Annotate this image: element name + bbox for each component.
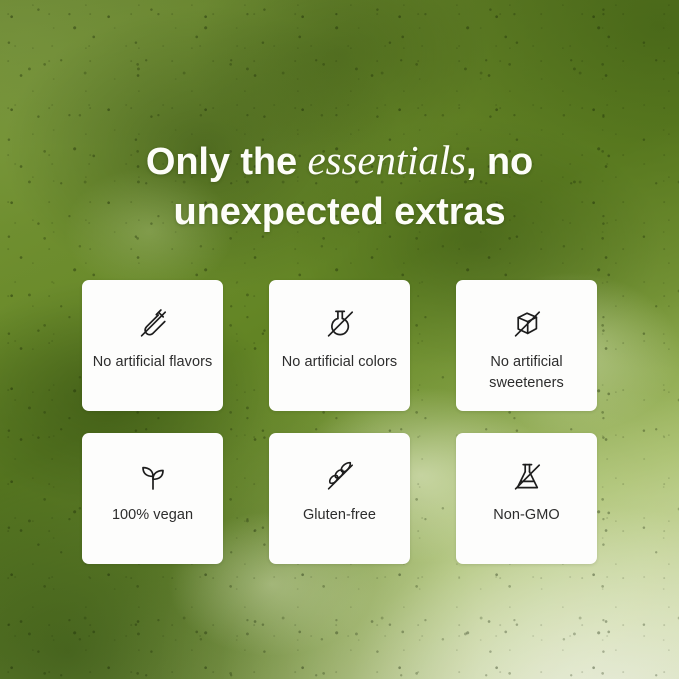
headline-part-one: Only the [146, 141, 308, 183]
no-conical-flask-icon [507, 455, 547, 499]
feature-card-grid: No artificial flavors No artificial colo… [82, 280, 597, 564]
feature-card-label: Gluten-free [303, 505, 376, 526]
no-round-flask-icon [320, 302, 360, 346]
headline-emphasis: essentials [308, 137, 466, 183]
promo-graphic: Only the essentials, no unexpected extra… [0, 0, 679, 679]
feature-card-label: No artificial sweeteners [465, 352, 588, 394]
sprout-icon [133, 455, 173, 499]
no-sugar-cube-icon [507, 302, 547, 346]
feature-card-label: 100% vegan [112, 505, 193, 526]
feature-card-no-artificial-colors: No artificial colors [269, 280, 410, 411]
feature-card-no-artificial-sweeteners: No artificial sweeteners [456, 280, 597, 411]
feature-card-label: Non-GMO [493, 505, 559, 526]
feature-card-no-artificial-flavors: No artificial flavors [82, 280, 223, 411]
feature-card-non-gmo: Non-GMO [456, 433, 597, 564]
page-title: Only the essentials, no unexpected extra… [0, 135, 679, 237]
no-test-tube-icon [133, 302, 173, 346]
feature-card-vegan: 100% vegan [82, 433, 223, 564]
feature-card-label: No artificial flavors [93, 352, 213, 373]
no-wheat-icon [320, 455, 360, 499]
feature-card-label: No artificial colors [282, 352, 397, 373]
feature-card-gluten-free: Gluten-free [269, 433, 410, 564]
